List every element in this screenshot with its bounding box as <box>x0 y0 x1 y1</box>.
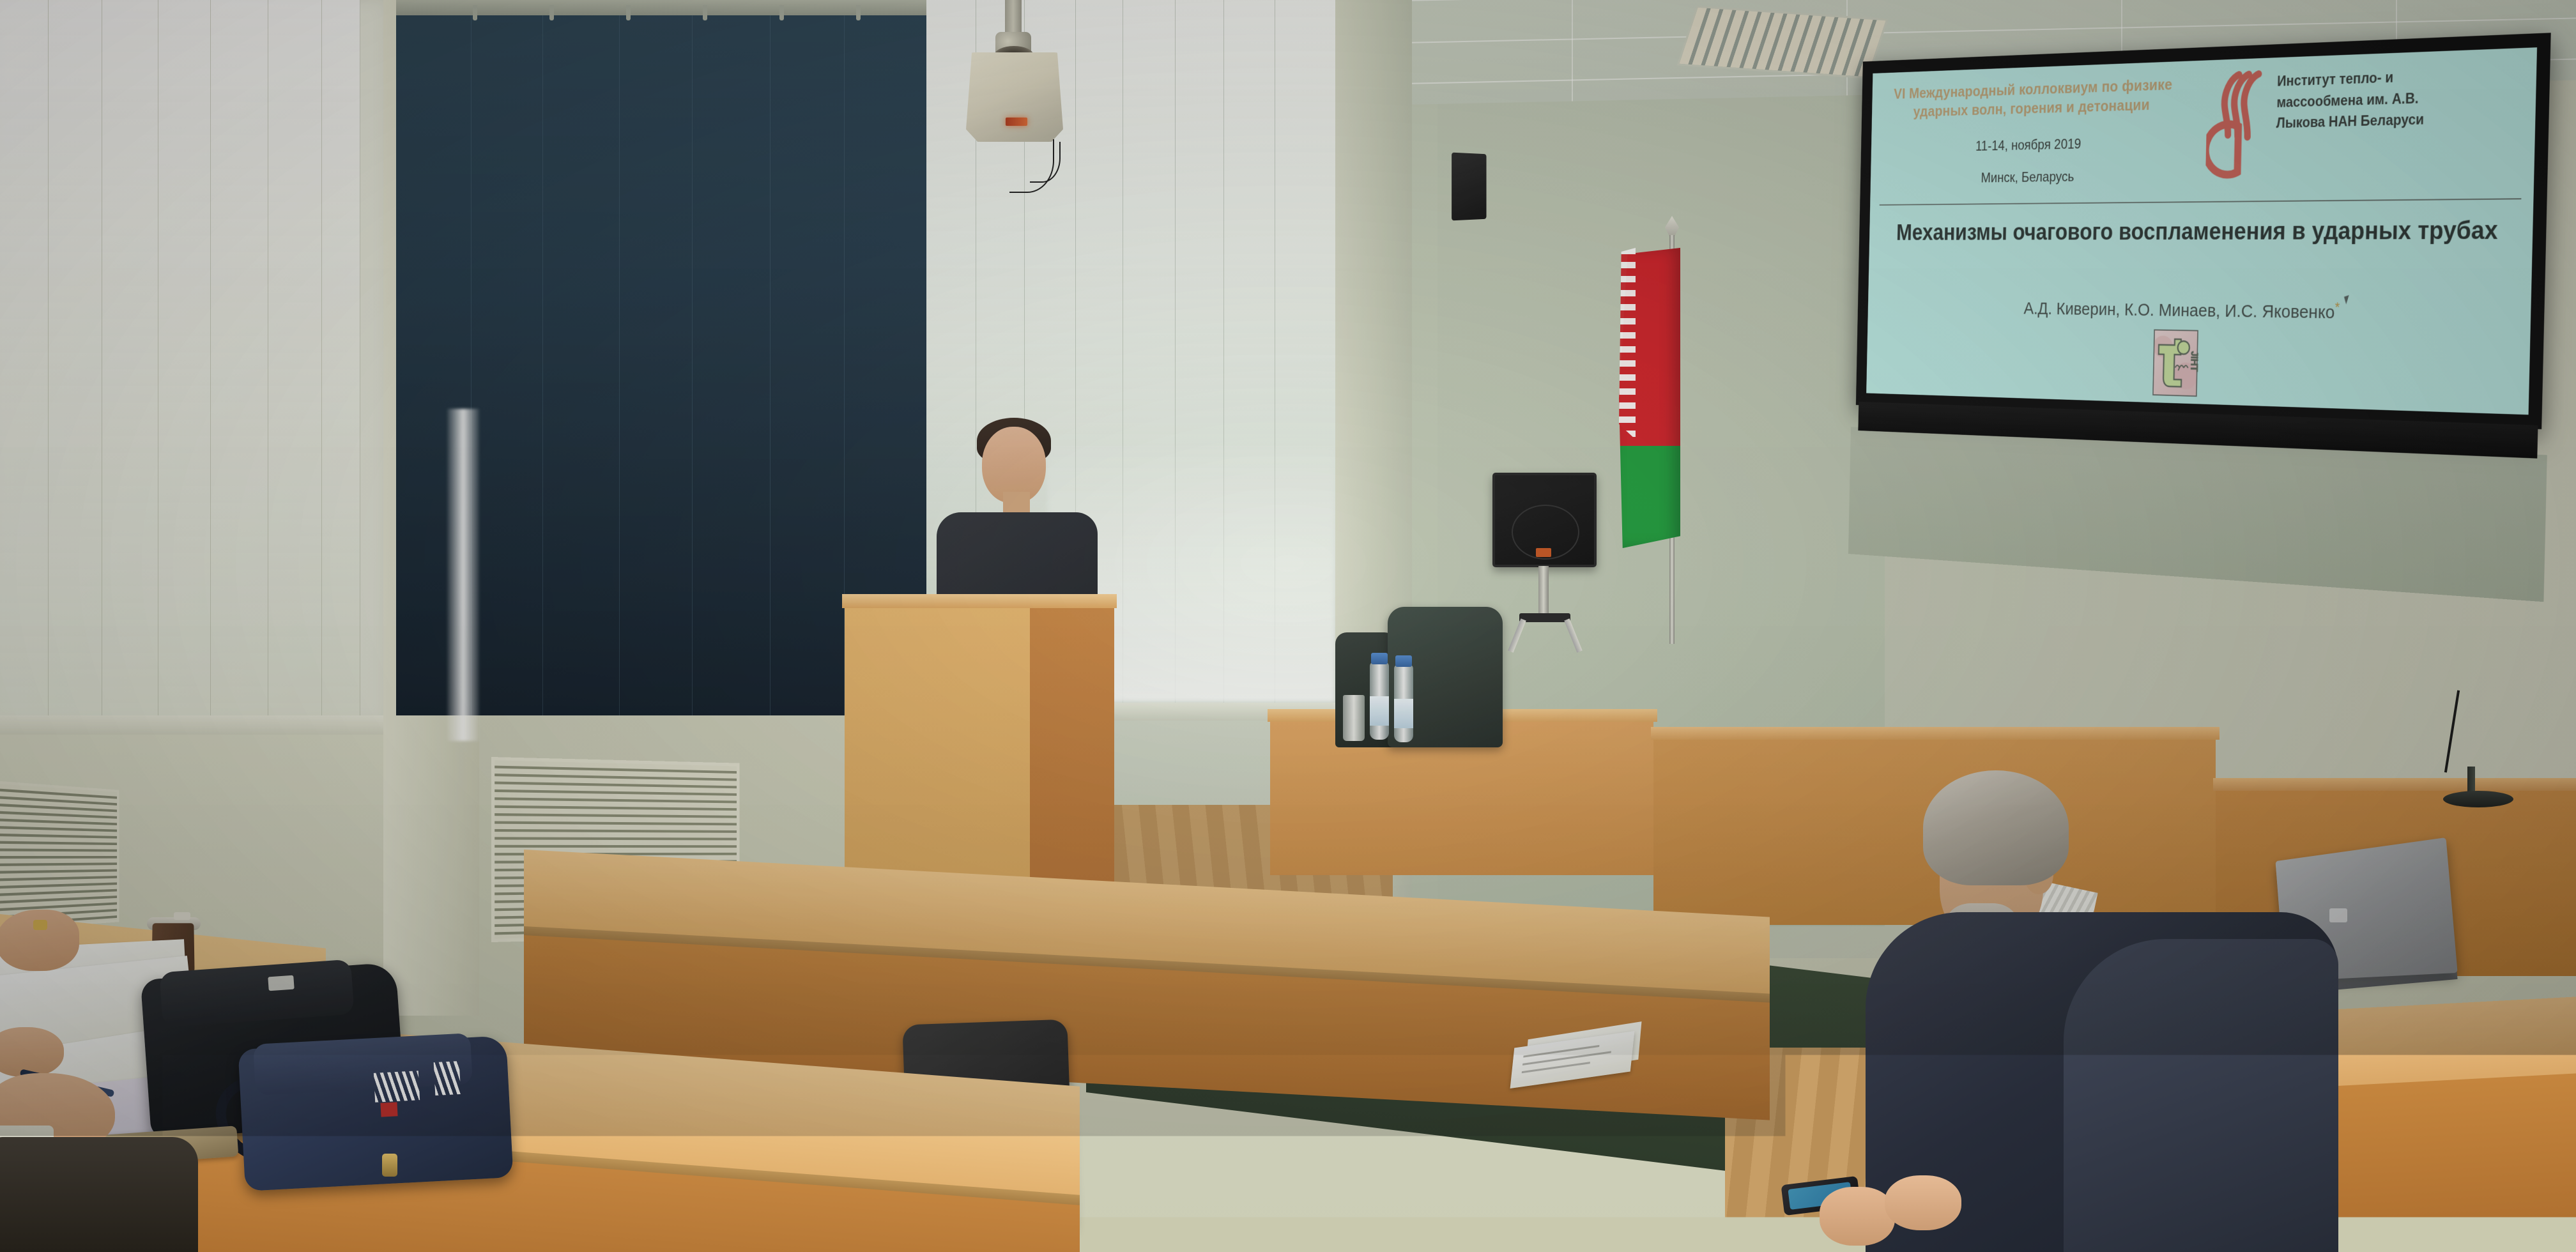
host-institute-name: Институт тепло- и массообмена им. А.В. Л… <box>2276 65 2449 134</box>
attendee-hair <box>1923 770 2069 885</box>
radiator-grille-left <box>0 781 119 931</box>
presidium-desk-right-top <box>2213 778 2576 791</box>
slide-header: VI Международный коллоквиум по физике уд… <box>1870 47 2537 202</box>
podium-front-panel <box>845 604 1036 897</box>
pa-speaker-stand-base <box>1519 613 1570 622</box>
presentation-slide: VI Международный коллоквиум по физике уд… <box>1866 47 2537 415</box>
authors-text: А.Д. Киверин, К.О. Минаев, И.С. Яковенко <box>2023 299 2335 323</box>
blind-track-center <box>396 0 933 15</box>
conference-dates: 11-14, ноября 2019 <box>1883 133 2182 158</box>
blue-bag-logo-icon <box>374 1071 420 1103</box>
attendee-shoulder <box>2064 939 2338 1252</box>
podium-top-surface <box>842 594 1117 608</box>
ceiling-projector <box>966 52 1063 142</box>
black-bag-tag <box>268 975 294 991</box>
conference-title: VI Международный коллоквиум по физике уд… <box>1884 74 2183 121</box>
window-light-gap <box>447 409 479 741</box>
projection-screen: VI Международный коллоквиум по физике уд… <box>1851 33 2551 722</box>
attendee-hand <box>1820 1187 1895 1246</box>
laptop-logo-icon <box>2329 908 2347 922</box>
projector-status-led <box>1006 118 1027 126</box>
attendee-hand-upper <box>0 910 79 971</box>
attendee-hand <box>1885 1175 1961 1230</box>
presentation-title: Механизмы очагового воспламенения в удар… <box>1888 215 2509 247</box>
pa-speaker-stand-pole <box>1538 566 1549 618</box>
itmo-flame-logo-icon <box>2205 68 2272 183</box>
belarus-flag-ornament-band <box>1619 248 1636 439</box>
desk-microphone-base <box>2443 791 2513 807</box>
drinking-glass[interactable] <box>1343 695 1365 741</box>
attendee-hand-pointing <box>0 1027 64 1077</box>
podium-side-panel <box>1030 597 1114 912</box>
bottle-label <box>1370 696 1389 726</box>
blue-bag-logo-accent <box>380 1102 397 1117</box>
bottle-cap <box>1395 655 1412 667</box>
conference-room-photo: VI Международный коллоквиум по физике уд… <box>0 0 2576 1252</box>
wall-speaker <box>1452 153 1486 221</box>
slide-divider <box>1880 198 2522 206</box>
window-sill-left <box>0 715 415 737</box>
bottle-cap <box>1371 653 1388 664</box>
author-footnote-marker: * <box>2334 300 2340 315</box>
finger-ring <box>33 920 47 930</box>
coffee-cup-tab <box>174 912 190 920</box>
conference-city: Минск, Беларусь <box>1883 167 2181 188</box>
attendee-sleeve <box>0 1137 198 1252</box>
pa-speaker-badge <box>1536 548 1551 557</box>
presidium-desk-center-top <box>1651 727 2219 740</box>
jiht-logo-icon: JIHT <box>2152 330 2198 397</box>
window-left-blinds <box>0 0 402 728</box>
presentation-authors: А.Д. Киверин, К.О. Минаев, И.С. Яковенко… <box>1887 294 2507 326</box>
svg-text:JIHT: JIHT <box>2189 351 2198 372</box>
blue-bag-zipper-icon[interactable] <box>382 1154 397 1177</box>
blue-bag-logo-icon <box>434 1061 461 1095</box>
bottle-label <box>1394 699 1413 728</box>
